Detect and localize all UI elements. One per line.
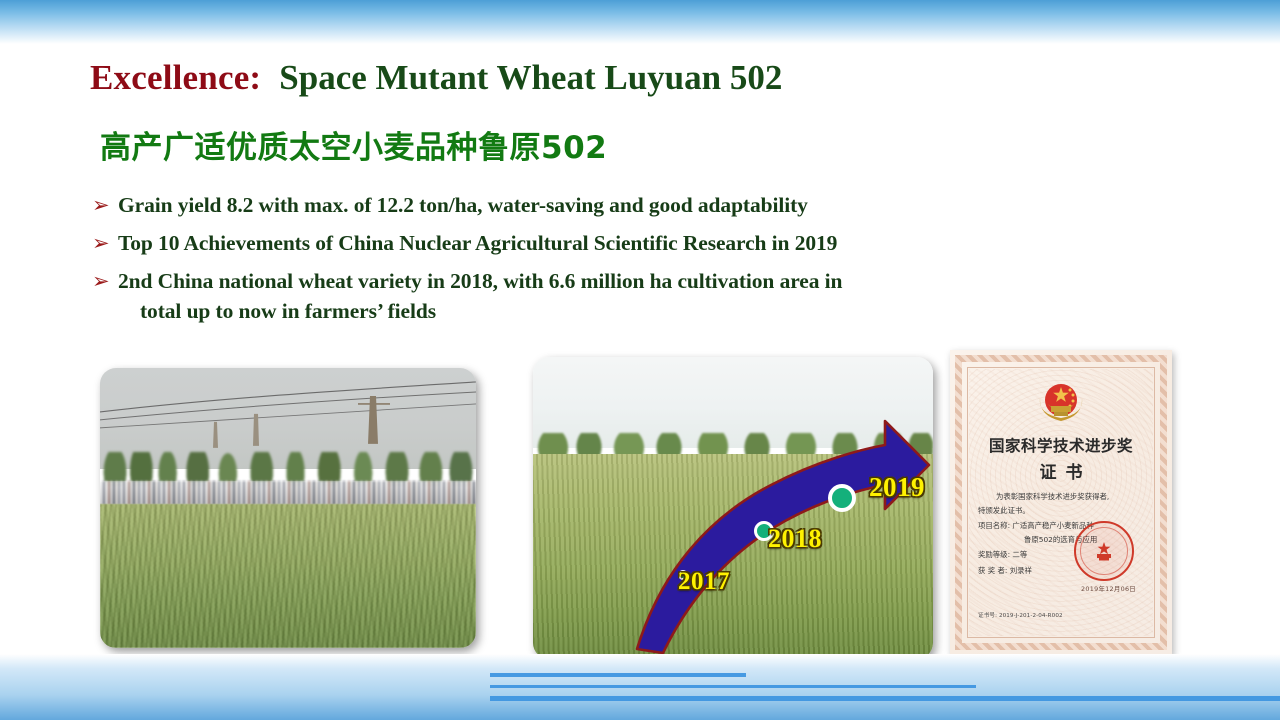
list-item: ➢ Top 10 Achievements of China Nuclear A… xyxy=(92,228,1172,258)
seal-emblem-icon xyxy=(1091,540,1117,562)
official-red-seal-icon xyxy=(1074,521,1134,581)
certificate-grade-value: 二等 xyxy=(1012,550,1027,559)
list-item: ➢ Grain yield 8.2 with max. of 12.2 ton/… xyxy=(92,190,1172,220)
certificate-heading-main: 国家科学技术进步奖 xyxy=(972,434,1150,456)
arrow-bullet-icon: ➢ xyxy=(92,228,118,258)
title-main: Space Mutant Wheat Luyuan 502 xyxy=(279,58,782,97)
bullet-text-line2: total up to now in farmers’ fields xyxy=(118,296,842,326)
page-title: Excellence: Space Mutant Wheat Luyuan 50… xyxy=(90,58,782,98)
year-label-2019: 2019 xyxy=(869,472,925,503)
presentation-slide: Excellence: Space Mutant Wheat Luyuan 50… xyxy=(0,0,1280,720)
growth-arrow-icon xyxy=(533,357,933,659)
bullet-text: Grain yield 8.2 with max. of 12.2 ton/ha… xyxy=(118,190,808,220)
certificate-date: 2019年12月06日 xyxy=(1081,584,1136,593)
certificate-grade-label: 奖励等级: xyxy=(978,550,1010,559)
photo-content xyxy=(100,368,476,648)
bullet-text-line1: 2nd China national wheat variety in 2018… xyxy=(118,269,842,293)
wheat-field-crowd-photo xyxy=(100,368,476,648)
arrow-bullet-icon: ➢ xyxy=(92,190,118,220)
footer-line-1 xyxy=(490,673,746,677)
photo-content xyxy=(533,357,933,659)
bullet-text: 2nd China national wheat variety in 2018… xyxy=(118,266,842,326)
marker-2019 xyxy=(828,484,856,512)
wheat-field-growth-photo xyxy=(533,357,933,659)
bullet-list: ➢ Grain yield 8.2 with max. of 12.2 ton/… xyxy=(92,190,1172,334)
footer-line-2 xyxy=(490,685,976,688)
top-decorative-band xyxy=(0,0,1280,44)
certificate-body-line-2: 特颁发此证书。 xyxy=(978,504,1144,518)
certificate-body-line-1: 为表彰国家科学技术进步奖获得者, xyxy=(978,490,1144,504)
award-certificate-image: 国家科学技术进步奖 证书 为表彰国家科学技术进步奖获得者, 特颁发此证书。 项目… xyxy=(950,350,1172,655)
certificate-project-value-1: 广适高产稳产小麦新品种 xyxy=(1012,521,1093,530)
year-label-2018: 2018 xyxy=(768,524,822,554)
title-prefix: Excellence: xyxy=(90,58,261,97)
certificate-heading-sub: 证书 xyxy=(972,458,1150,483)
crowd-shading xyxy=(100,481,476,506)
china-national-emblem-icon xyxy=(1034,378,1088,428)
certificate-project-label: 项目名称: xyxy=(978,521,1010,530)
subtitle-chinese: 高产广适优质太空小麦品种鲁原502 xyxy=(100,122,607,167)
certificate-number: 证书号: 2019-J-201-2-04-R002 xyxy=(978,611,1063,619)
wheat-field-region xyxy=(100,504,476,648)
bullet-text: Top 10 Achievements of China Nuclear Agr… xyxy=(118,228,837,258)
footer-line-3 xyxy=(490,696,1280,701)
arrow-bullet-icon: ➢ xyxy=(92,266,118,296)
certificate-recipient-value: 刘录祥 xyxy=(1010,566,1032,575)
list-item: ➢ 2nd China national wheat variety in 20… xyxy=(92,266,1172,326)
year-label-2017: 2017 xyxy=(678,568,730,596)
certificate-content: 国家科学技术进步奖 证书 为表彰国家科学技术进步奖获得者, 特颁发此证书。 项目… xyxy=(972,372,1150,633)
certificate-recipient-label: 获 奖 者: xyxy=(978,566,1007,575)
